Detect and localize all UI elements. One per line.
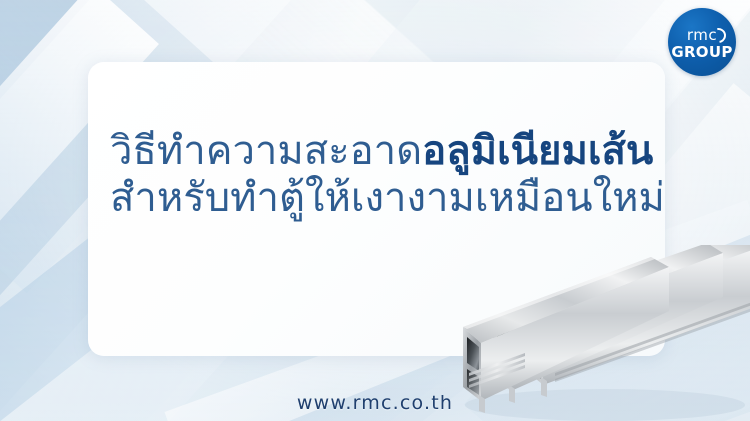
page-title: วิธีทำความสะอาดอลูมิเนียมเส้น สำหรับทำตู… (110, 128, 670, 222)
website-url[interactable]: www.rmc.co.th (0, 392, 750, 414)
headline-line-2: สำหรับทำตู้ให้เงางามเหมือนใหม่ (110, 175, 670, 222)
headline-bold-text: อลูมิเนียมเส้น (422, 128, 653, 174)
logo-text-group: GROUP (668, 43, 736, 61)
headline-regular-text: วิธีทำความสะอาด (110, 128, 422, 174)
headline-line-1: วิธีทำความสะอาดอลูมิเนียมเส้น (110, 128, 670, 175)
rmc-group-logo[interactable]: rmc GROUP (668, 8, 736, 76)
banner-canvas: วิธีทำความสะอาดอลูมิเนียมเส้น สำหรับทำตู… (0, 0, 750, 421)
